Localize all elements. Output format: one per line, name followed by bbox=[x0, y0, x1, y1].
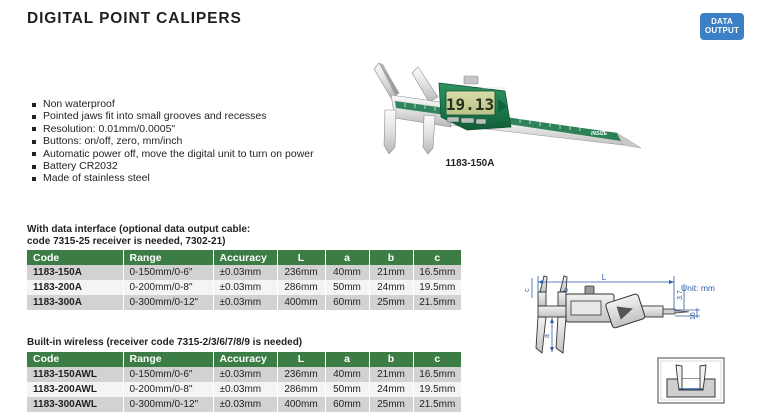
data-output-badge: DATA OUTPUT bbox=[700, 13, 744, 40]
column-header-a: a bbox=[325, 250, 369, 265]
column-header-code: Code bbox=[27, 352, 123, 367]
dimension-diagram: L c b a 3.7 16 bbox=[492, 248, 762, 358]
cell-c: 19.5mm bbox=[413, 382, 461, 397]
cell-range: 0-300mm/0-12" bbox=[123, 295, 213, 310]
cell-a: 50mm bbox=[325, 280, 369, 295]
detail-inset bbox=[657, 357, 725, 404]
cell-b: 25mm bbox=[369, 295, 413, 310]
page-title: DIGITAL POINT CALIPERS bbox=[27, 10, 242, 28]
caliper-digital-unit: 19.13 0.01mm/.0005" bbox=[439, 76, 511, 130]
table-header-row: Code Range Accuracy L a b c bbox=[27, 250, 461, 265]
cell-c: 21.5mm bbox=[413, 295, 461, 310]
data-output-badge-line2: OUTPUT bbox=[705, 27, 739, 35]
table-caption: Built-in wireless (receiver code 7315-2/… bbox=[27, 337, 461, 349]
cell-range: 0-150mm/0-6" bbox=[123, 367, 213, 382]
groove-measurement-illustration bbox=[657, 357, 725, 404]
column-header-accuracy: Accuracy bbox=[213, 352, 277, 367]
caliper-illustration: INSIZE bbox=[355, 55, 645, 155]
table-caption: With data interface (optional data outpu… bbox=[27, 224, 461, 247]
cell-b: 21mm bbox=[369, 367, 413, 382]
column-header-b: b bbox=[369, 250, 413, 265]
cell-a: 60mm bbox=[325, 397, 369, 412]
cell-l: 236mm bbox=[277, 367, 325, 382]
dimension-label-L: L bbox=[602, 273, 607, 282]
product-photo: INSIZE bbox=[355, 55, 645, 155]
table-header-row: Code Range Accuracy L a b c bbox=[27, 352, 461, 367]
cell-accuracy: ±0.03mm bbox=[213, 280, 277, 295]
cell-code: 1183-200A bbox=[27, 280, 123, 295]
column-header-range: Range bbox=[123, 352, 213, 367]
lcd-value: 19.13 bbox=[446, 95, 494, 114]
dimension-label-c: c bbox=[524, 288, 531, 292]
list-item: Resolution: 0.01mm/0.0005" bbox=[32, 123, 314, 135]
list-item: Non waterproof bbox=[32, 98, 314, 110]
list-item: Made of stainless steel bbox=[32, 172, 314, 184]
cell-l: 236mm bbox=[277, 265, 325, 280]
cell-c: 19.5mm bbox=[413, 280, 461, 295]
cell-a: 60mm bbox=[325, 295, 369, 310]
cell-code: 1183-300A bbox=[27, 295, 123, 310]
column-header-b: b bbox=[369, 352, 413, 367]
cell-accuracy: ±0.03mm bbox=[213, 265, 277, 280]
cell-accuracy: ±0.03mm bbox=[213, 382, 277, 397]
brand-label: INSIZE bbox=[591, 131, 608, 137]
cell-range: 0-300mm/0-12" bbox=[123, 397, 213, 412]
cell-a: 40mm bbox=[325, 367, 369, 382]
column-header-a: a bbox=[325, 352, 369, 367]
table-row: 1183-300A 0-300mm/0-12" ±0.03mm 400mm 60… bbox=[27, 295, 461, 310]
cell-accuracy: ±0.03mm bbox=[213, 295, 277, 310]
feature-list: Non waterproof Pointed jaws fit into sma… bbox=[32, 98, 314, 185]
cell-code: 1183-150A bbox=[27, 265, 123, 280]
cell-range: 0-200mm/0-8" bbox=[123, 382, 213, 397]
dimension-label-16: 16 bbox=[690, 312, 697, 320]
cell-c: 21.5mm bbox=[413, 397, 461, 412]
cell-b: 21mm bbox=[369, 265, 413, 280]
cell-c: 16.5mm bbox=[413, 367, 461, 382]
spec-table: Code Range Accuracy L a b c 1183-150AWL … bbox=[27, 352, 461, 412]
cell-l: 286mm bbox=[277, 280, 325, 295]
table-row: 1183-300AWL 0-300mm/0-12" ±0.03mm 400mm … bbox=[27, 397, 461, 412]
table-row: 1183-150AWL 0-150mm/0-6" ±0.03mm 236mm 4… bbox=[27, 367, 461, 382]
list-item: Buttons: on/off, zero, mm/inch bbox=[32, 135, 314, 147]
spec-table-block-wireless: Built-in wireless (receiver code 7315-2/… bbox=[27, 337, 461, 412]
cell-accuracy: ±0.03mm bbox=[213, 367, 277, 382]
list-item: Automatic power off, move the digital un… bbox=[32, 148, 314, 160]
cell-l: 286mm bbox=[277, 382, 325, 397]
thumb-roller bbox=[464, 76, 478, 84]
column-header-code: Code bbox=[27, 250, 123, 265]
dimension-label-a: a bbox=[544, 334, 551, 338]
cell-range: 0-200mm/0-8" bbox=[123, 280, 213, 295]
cell-b: 25mm bbox=[369, 397, 413, 412]
cell-a: 50mm bbox=[325, 382, 369, 397]
cell-b: 24mm bbox=[369, 280, 413, 295]
cell-a: 40mm bbox=[325, 265, 369, 280]
technical-drawing: L c b a 3.7 16 bbox=[492, 248, 762, 358]
cell-accuracy: ±0.03mm bbox=[213, 397, 277, 412]
column-header-l: L bbox=[277, 250, 325, 265]
table-row: 1183-200AWL 0-200mm/0-8" ±0.03mm 286mm 5… bbox=[27, 382, 461, 397]
cell-c: 16.5mm bbox=[413, 265, 461, 280]
cell-l: 400mm bbox=[277, 397, 325, 412]
unit-label: Unit: mm bbox=[681, 283, 715, 293]
column-header-l: L bbox=[277, 352, 325, 367]
spec-table: Code Range Accuracy L a b c 1183-150A 0-… bbox=[27, 250, 461, 310]
list-item: Pointed jaws fit into small grooves and … bbox=[32, 110, 314, 122]
cell-l: 400mm bbox=[277, 295, 325, 310]
cell-b: 24mm bbox=[369, 382, 413, 397]
cell-code: 1183-200AWL bbox=[27, 382, 123, 397]
column-header-c: c bbox=[413, 250, 461, 265]
spec-table-block-data-interface: With data interface (optional data outpu… bbox=[27, 224, 461, 310]
column-header-c: c bbox=[413, 352, 461, 367]
table-row: 1183-150A 0-150mm/0-6" ±0.03mm 236mm 40m… bbox=[27, 265, 461, 280]
cell-range: 0-150mm/0-6" bbox=[123, 265, 213, 280]
dimension-label-b: b bbox=[563, 288, 570, 292]
product-caption: 1183-150A bbox=[410, 158, 530, 169]
column-header-range: Range bbox=[123, 250, 213, 265]
unit-marking: 0.01mm/.0005" bbox=[482, 86, 507, 90]
caliper-upper-jaw bbox=[374, 63, 438, 102]
cell-code: 1183-300AWL bbox=[27, 397, 123, 412]
list-item: Battery CR2032 bbox=[32, 160, 314, 172]
cell-code: 1183-150AWL bbox=[27, 367, 123, 382]
table-row: 1183-200A 0-200mm/0-8" ±0.03mm 286mm 50m… bbox=[27, 280, 461, 295]
column-header-accuracy: Accuracy bbox=[213, 250, 277, 265]
drawing-digital-unit bbox=[566, 286, 645, 329]
